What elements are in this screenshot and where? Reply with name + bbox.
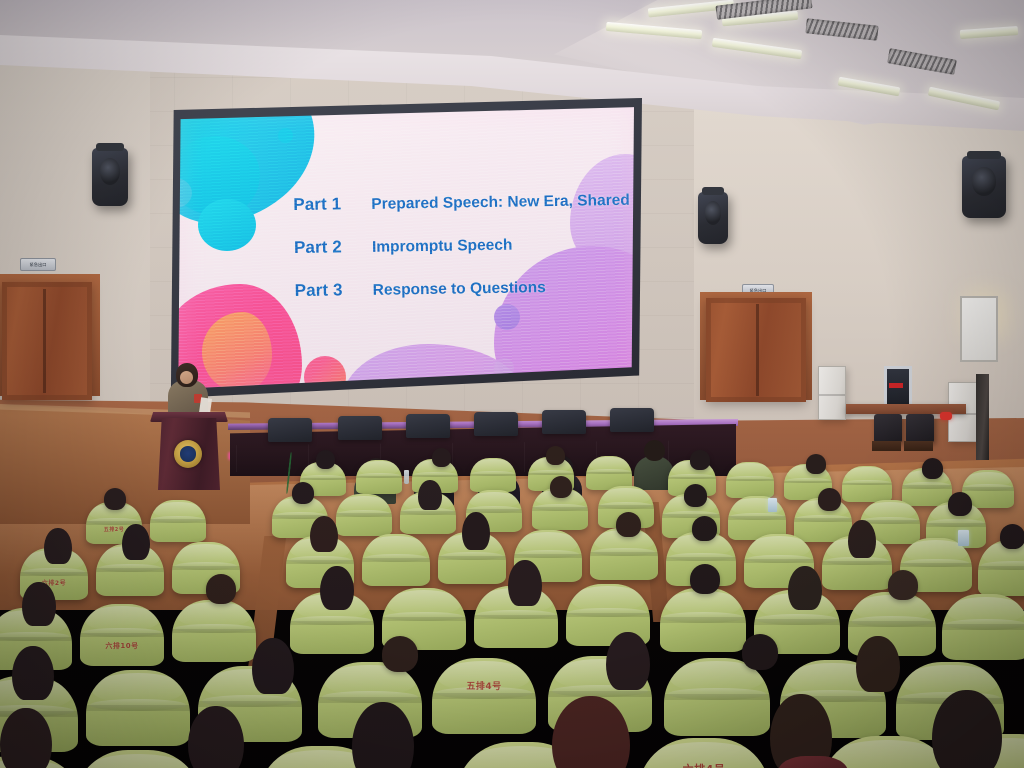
judge-chair-6[interactable] xyxy=(610,408,654,432)
seat-label: 六排4号 xyxy=(638,761,770,768)
audience-hair xyxy=(122,524,150,560)
presenter-face xyxy=(180,371,193,384)
audience-head xyxy=(948,492,972,516)
audience-hair xyxy=(508,560,542,606)
audience-hair xyxy=(320,566,354,610)
audience-head xyxy=(684,484,707,507)
slide-part-label-3: Part 3 xyxy=(295,280,373,301)
screen-surface: Part 1 Prepared Speech: New Era, Shared … xyxy=(176,106,634,390)
audience-head xyxy=(692,516,717,541)
auditorium-scene: Part 1 Prepared Speech: New Era, Shared … xyxy=(0,0,1024,768)
seat[interactable] xyxy=(336,494,392,536)
slide-blob-orange xyxy=(202,312,272,390)
slide-row-1: Part 1 Prepared Speech: New Era, Shared … xyxy=(293,189,634,215)
audience-head xyxy=(690,564,720,594)
slide-part-body-2: Impromptu Speech xyxy=(372,237,513,257)
audience-head xyxy=(432,448,451,467)
utility-cabinet-center xyxy=(818,366,846,420)
audience-hair xyxy=(12,646,54,700)
door-left[interactable] xyxy=(2,282,92,400)
whiteboard-right xyxy=(960,296,998,362)
slide-circle-cyan xyxy=(198,199,256,251)
fire-panel-red-label xyxy=(889,383,903,389)
audience-head xyxy=(382,636,418,672)
audience-head xyxy=(690,450,710,470)
audience-head xyxy=(206,574,236,604)
audience-head xyxy=(1000,524,1024,549)
slide-part-body-1: Prepared Speech: New Era, Shared Future xyxy=(371,191,634,214)
audience-hair xyxy=(462,512,490,550)
door-right-center-seam xyxy=(756,304,759,396)
audience-hair xyxy=(606,632,650,690)
audience-head xyxy=(742,634,778,670)
door-left-center-seam xyxy=(43,289,46,393)
audience-phone[interactable] xyxy=(768,498,777,512)
audience-hair xyxy=(788,566,822,610)
audience-head xyxy=(888,570,918,600)
seat[interactable] xyxy=(842,466,892,502)
side-chair-2[interactable] xyxy=(906,414,934,442)
slide-row-2: Part 2 Impromptu Speech xyxy=(294,232,634,258)
seat[interactable] xyxy=(74,750,202,768)
audience-head xyxy=(292,482,314,504)
seat[interactable] xyxy=(362,534,430,586)
audience-head xyxy=(104,488,126,510)
audience-hair xyxy=(252,638,294,694)
slide-dot-cyan xyxy=(278,128,293,143)
door-right[interactable] xyxy=(706,298,806,402)
audience-head xyxy=(818,488,841,511)
seat[interactable] xyxy=(470,458,516,492)
slide-part-body-3: Response to Questions xyxy=(373,279,546,300)
exit-sign-left-text: 紧急出口 xyxy=(29,262,46,268)
speaker-bracket-left xyxy=(96,143,123,151)
audience-hair xyxy=(44,528,72,564)
exit-sign-left: 紧急出口 xyxy=(20,258,56,271)
slide-part-label-1: Part 1 xyxy=(293,194,371,215)
judge-chair-4[interactable] xyxy=(474,412,518,436)
audience-head xyxy=(922,458,943,479)
wall-speaker-left xyxy=(92,148,128,206)
seat[interactable]: 六排4号 xyxy=(638,738,770,768)
seat[interactable] xyxy=(86,670,190,746)
slide-dot-purple xyxy=(494,304,520,330)
fire-equipment-panel[interactable] xyxy=(884,366,912,408)
projection-screen[interactable]: Part 1 Prepared Speech: New Era, Shared … xyxy=(168,98,642,398)
seat[interactable] xyxy=(172,600,256,662)
audience-head xyxy=(616,512,641,537)
seat[interactable] xyxy=(586,456,632,490)
seat-label: 六排10号 xyxy=(80,641,164,651)
seat[interactable]: 五排4号 xyxy=(432,658,536,734)
audience-hair xyxy=(310,516,338,552)
audience-head xyxy=(546,446,565,465)
slide-agenda-list: Part 1 Prepared Speech: New Era, Shared … xyxy=(293,189,634,301)
audience-hair xyxy=(418,480,442,510)
judge-chair-1[interactable] xyxy=(268,418,312,442)
judge-chair-2[interactable] xyxy=(338,416,382,440)
seat[interactable] xyxy=(942,594,1024,660)
audience-head xyxy=(550,476,572,498)
audience-hair xyxy=(856,636,900,692)
side-chair-1[interactable] xyxy=(874,414,902,442)
audience-phone[interactable] xyxy=(958,530,969,546)
audience-head xyxy=(806,454,826,474)
seat[interactable] xyxy=(356,460,402,494)
seat[interactable]: 六排10号 xyxy=(80,604,164,666)
seat[interactable] xyxy=(660,588,746,652)
speaker-bracket-center-right xyxy=(702,187,725,195)
audience-hair xyxy=(22,582,56,626)
audience-head xyxy=(316,450,335,469)
wall-speaker-center-right xyxy=(698,192,728,244)
slide-part-label-2: Part 2 xyxy=(294,237,372,258)
audience-hair xyxy=(848,520,876,558)
judge-chair-5[interactable] xyxy=(542,410,586,434)
seat[interactable] xyxy=(726,462,774,498)
audience-area: 五排2号 六排2号 xyxy=(0,440,1024,768)
emergency-button[interactable] xyxy=(940,412,952,420)
speaker-bracket-right xyxy=(967,151,1000,159)
wall-speaker-right xyxy=(962,156,1006,218)
judge-chair-3[interactable] xyxy=(406,414,450,438)
seat[interactable] xyxy=(150,500,206,542)
